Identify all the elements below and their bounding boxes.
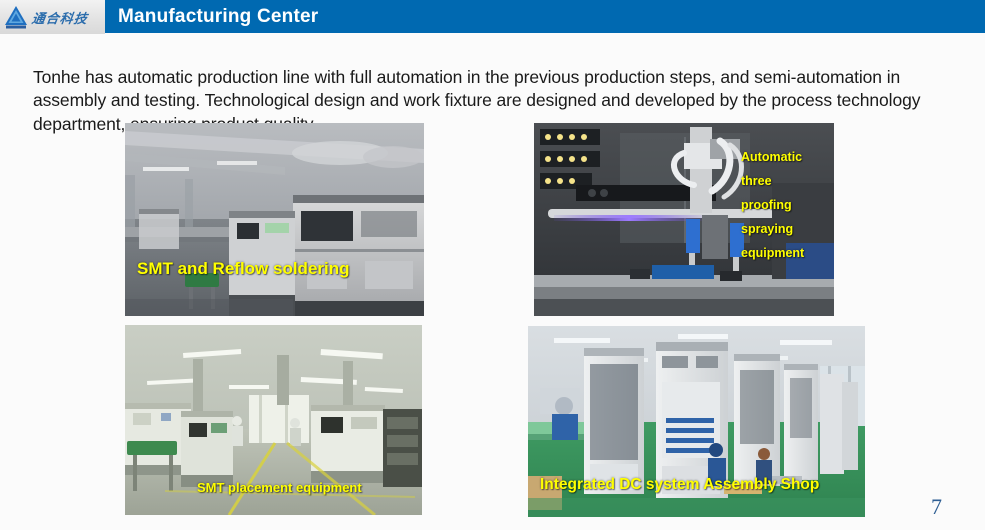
tonhe-triangle-emblem-icon bbox=[3, 4, 29, 30]
photo-caption-line: spraying bbox=[741, 217, 825, 241]
page-title: Manufacturing Center bbox=[118, 3, 318, 30]
company-logo: 通合科技 bbox=[0, 0, 105, 34]
photo-caption-line: proofing bbox=[741, 193, 825, 217]
photo-caption: SMT placement equipment bbox=[197, 480, 362, 495]
photo-caption-line: three bbox=[741, 169, 825, 193]
photo-caption: Automatic three proofing spraying equipm… bbox=[741, 145, 825, 265]
photo-caption-line: Automatic bbox=[741, 145, 825, 169]
photo-automatic-three-proofing-spraying-equipment: Automatic three proofing spraying equipm… bbox=[534, 123, 834, 316]
photo-smt-placement-equipment: SMT placement equipment bbox=[125, 325, 422, 515]
logo-wordmark: 通合科技 bbox=[31, 8, 90, 27]
photo-caption: SMT and Reflow soldering bbox=[137, 259, 350, 279]
photo-smt-and-reflow-soldering: SMT and Reflow soldering bbox=[125, 123, 424, 316]
photo-smt-and-reflow-soldering-image bbox=[125, 123, 424, 316]
photo-integrated-dc-system-assembly-shop: Integrated DC system Assembly Shop bbox=[528, 326, 865, 517]
header-title-bar: Manufacturing Center bbox=[105, 0, 985, 33]
photo-caption-line: equipment bbox=[741, 241, 825, 265]
page-number: 7 bbox=[931, 494, 942, 520]
photo-caption: Integrated DC system Assembly Shop bbox=[540, 474, 820, 495]
slide-header: 通合科技 Manufacturing Center bbox=[0, 0, 985, 34]
